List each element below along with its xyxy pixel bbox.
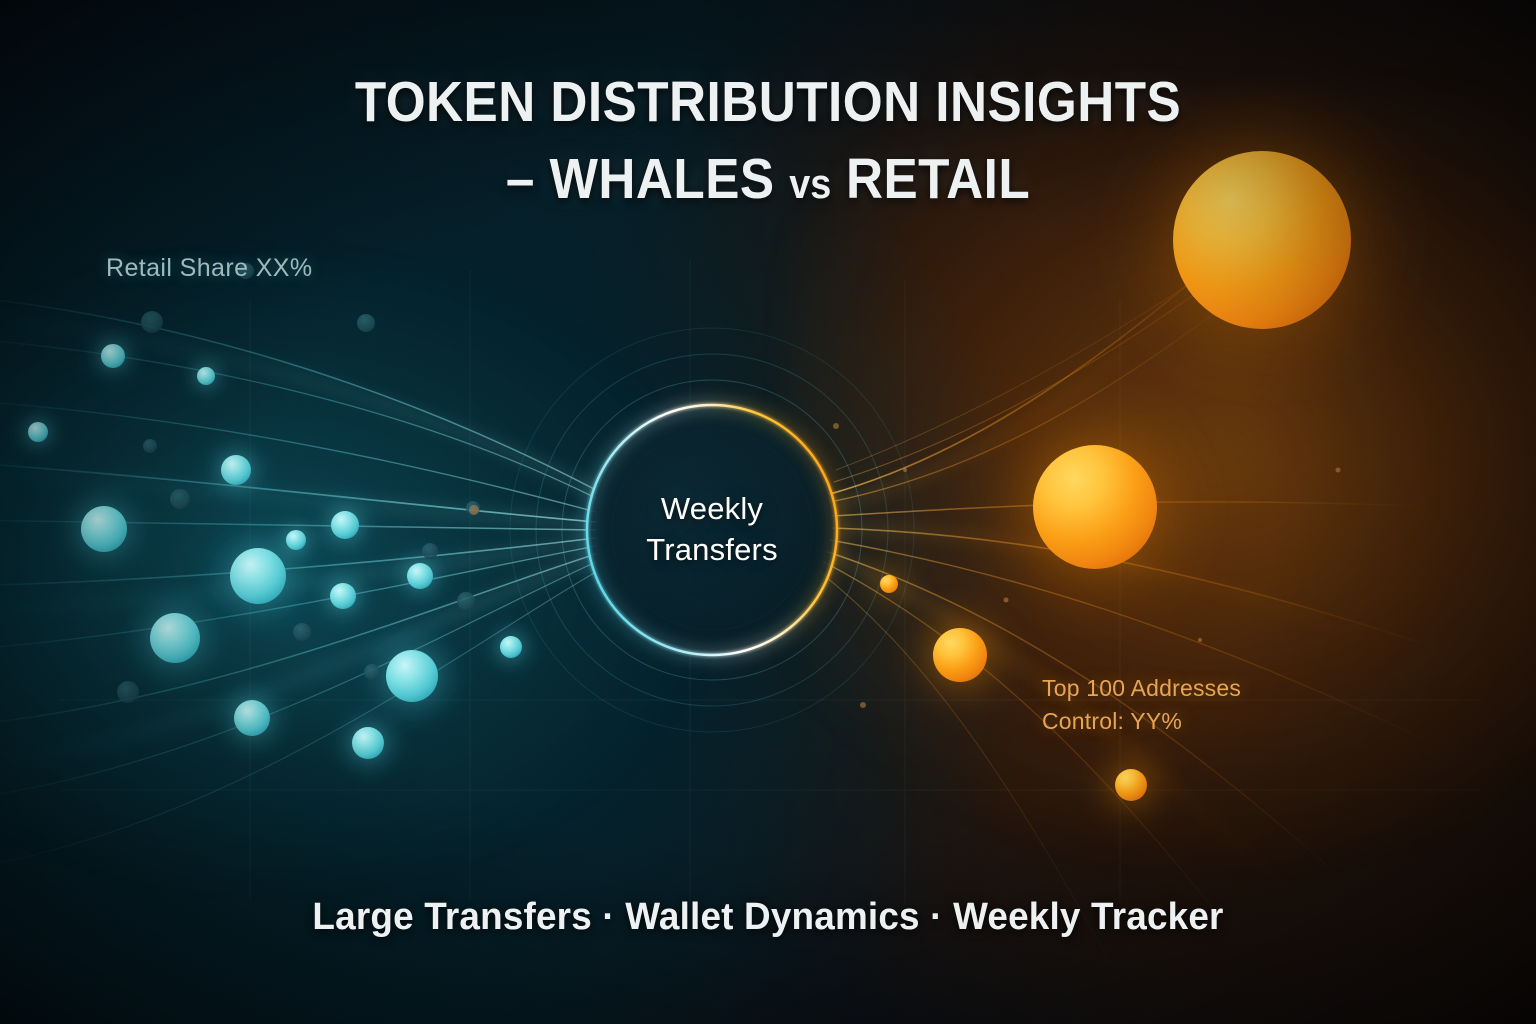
- whale-control-label: Top 100 Addresses Control: YY%: [1042, 672, 1241, 737]
- whale-control-label-line2: Control: YY%: [1042, 705, 1241, 738]
- footer-caption: Large Transfers · Wallet Dynamics · Week…: [23, 896, 1513, 939]
- retail-share-label: Retail Share XX%: [106, 254, 313, 283]
- hub-node[interactable]: [587, 405, 837, 655]
- network-diagram: [0, 0, 1536, 1024]
- poster-canvas: TOKEN DISTRIBUTION INSIGHTS – WHALES vs …: [0, 0, 1536, 1024]
- whale-control-label-line1: Top 100 Addresses: [1042, 675, 1241, 701]
- retail-particles: [14, 263, 537, 779]
